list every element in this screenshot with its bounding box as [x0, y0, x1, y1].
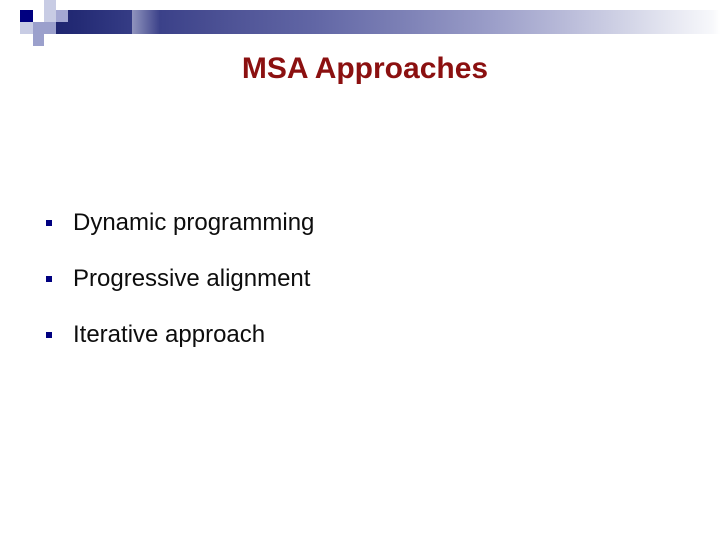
list-item-label: Iterative approach: [73, 320, 265, 350]
mosaic-square-white-1: [33, 10, 44, 22]
header-decoration: [0, 0, 720, 48]
bullet-list: Dynamic programming Progressive alignmen…: [46, 208, 666, 376]
mosaic-square-periwinkle-1: [56, 10, 68, 22]
slide-canvas: MSA Approaches Dynamic programming Progr…: [0, 0, 720, 540]
mosaic-square-lavender-1: [44, 0, 56, 10]
mosaic-square-navy-accent: [20, 10, 33, 22]
mosaic-square-lavender-2: [44, 10, 56, 22]
mosaic-square-periwinkle-2: [33, 22, 44, 34]
header-gradient-bar: [20, 10, 720, 34]
list-item: Iterative approach: [46, 320, 666, 376]
mosaic-square-periwinkle-3: [44, 22, 56, 34]
mosaic-square-white-2: [8, 22, 20, 34]
square-bullet-icon: [46, 332, 52, 338]
list-item-label: Progressive alignment: [73, 264, 310, 294]
list-item: Dynamic programming: [46, 208, 666, 264]
list-item-label: Dynamic programming: [73, 208, 314, 238]
mosaic-square-lavender-3: [20, 22, 33, 34]
page-title: MSA Approaches: [60, 50, 670, 88]
list-item: Progressive alignment: [46, 264, 666, 320]
mosaic-square-periwinkle-4: [33, 34, 44, 46]
mosaic-square-white-3: [0, 22, 8, 34]
square-bullet-icon: [46, 276, 52, 282]
square-bullet-icon: [46, 220, 52, 226]
